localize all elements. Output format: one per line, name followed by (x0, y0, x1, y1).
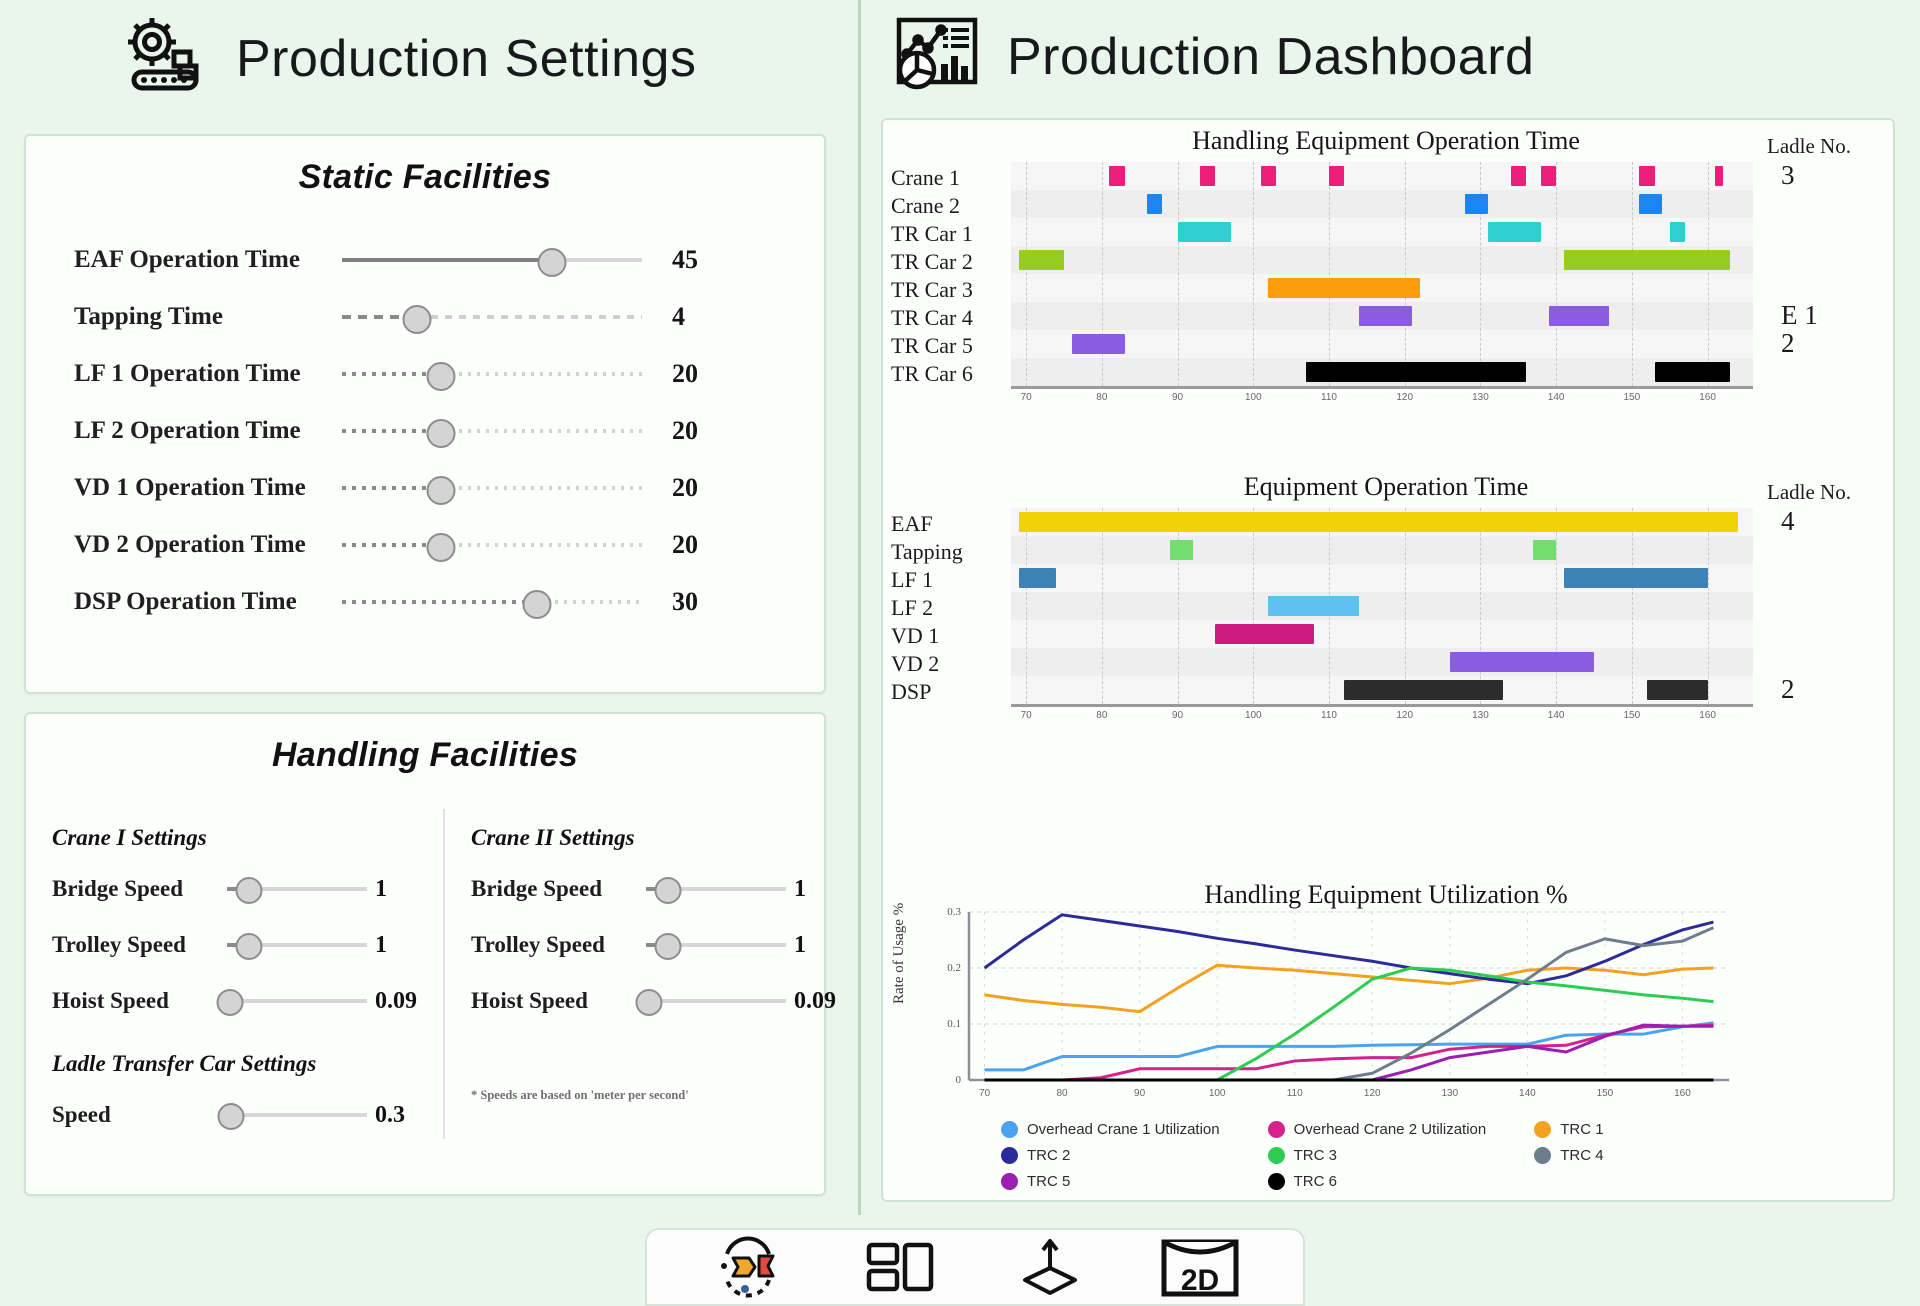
gantt-gridline (1632, 162, 1633, 386)
gantt-row-label: Tapping (883, 538, 1009, 566)
linechart-x-tick: 70 (979, 1088, 990, 1099)
handling-facility-slider[interactable] (227, 989, 367, 1013)
slider-knob[interactable] (635, 989, 662, 1016)
line-series (985, 915, 1714, 984)
linechart-x-tick: 150 (1597, 1088, 1614, 1099)
slider-track (342, 315, 642, 319)
swap-layout-icon[interactable] (695, 1235, 805, 1299)
gear-conveyor-icon (116, 14, 212, 103)
gantt-bar[interactable] (1465, 194, 1488, 214)
handling-facilities-card: Handling Facilities Crane I Settings Bri… (24, 712, 826, 1196)
slider-fill (342, 258, 552, 262)
gantt-x-tick: 90 (1172, 392, 1183, 403)
gantt-row-band (1011, 620, 1753, 648)
slider-rest (441, 486, 642, 490)
static-facility-value: 4 (642, 302, 768, 332)
crane-1-column: Crane I Settings Bridge Speed1Trolley Sp… (26, 809, 445, 1139)
slider-knob[interactable] (403, 305, 432, 334)
linechart-legend: Overhead Crane 1 UtilizationOverhead Cra… (1001, 1116, 1801, 1194)
slider-track (342, 258, 642, 262)
slider-knob[interactable] (216, 989, 243, 1016)
legend-item[interactable]: TRC 6 (1268, 1168, 1535, 1194)
static-facilities-card: Static Facilities EAF Operation Time45Ta… (24, 134, 826, 694)
legend-item[interactable]: TRC 2 (1001, 1142, 1268, 1168)
gantt-bar[interactable] (1072, 334, 1125, 354)
view-2d-icon[interactable]: 2D (1145, 1235, 1255, 1299)
gantt-bar[interactable] (1019, 250, 1064, 270)
handling-equipment-gantt: Handling Equipment Operation Time Crane … (883, 126, 1889, 456)
gantt-gridline (1556, 162, 1557, 386)
gantt-row-label: Crane 1 (883, 164, 1009, 192)
legend-label: Overhead Crane 2 Utilization (1294, 1121, 1487, 1138)
gantt-bar[interactable] (1564, 250, 1731, 270)
handling-facility-label: Bridge Speed (471, 876, 646, 902)
legend-color-dot (1001, 1173, 1018, 1190)
gantt-gridline (1556, 508, 1557, 704)
svg-text:2D: 2D (1181, 1264, 1219, 1297)
static-facility-label: EAF Operation Time (54, 246, 342, 274)
gantt-x-tick: 110 (1321, 710, 1337, 721)
slider-rest (441, 429, 642, 433)
ladle-no-header: Ladle No. (1767, 134, 1851, 159)
gantt-gridline (1102, 508, 1103, 704)
gantt-x-tick: 80 (1096, 392, 1107, 403)
slider-knob[interactable] (427, 476, 456, 505)
slider-knob[interactable] (523, 590, 552, 619)
static-facility-value: 20 (642, 473, 768, 503)
handling-facility-label: Speed (52, 1102, 227, 1128)
static-facility-slider[interactable] (342, 418, 642, 444)
static-facility-value: 30 (642, 587, 768, 617)
gantt-bar[interactable] (1147, 194, 1162, 214)
dashboard-header: Production Dashboard (861, 0, 1920, 105)
slider-track (227, 1113, 367, 1117)
gantt-row-label: LF 2 (883, 594, 1009, 622)
static-facility-slider[interactable] (342, 589, 642, 615)
static-facilities-title: Static Facilities (26, 158, 824, 197)
speed-units-note: * Speeds are based on 'meter per second' (471, 1088, 852, 1103)
handling-facility-label: Trolley Speed (471, 932, 646, 958)
static-facility-row: VD 2 Operation Time20 (54, 516, 796, 573)
slider-knob[interactable] (655, 933, 682, 960)
gantt-row-label: Crane 2 (883, 192, 1009, 220)
legend-label: TRC 4 (1560, 1147, 1603, 1164)
slider-rest (537, 600, 642, 604)
ladle-no-value: 2 (1781, 328, 1795, 359)
handling-facility-slider[interactable] (227, 1103, 367, 1127)
linechart-x-tick: 130 (1441, 1088, 1458, 1099)
gantt-x-tick: 100 (1245, 392, 1262, 403)
handling-facility-row: Trolley Speed1 (52, 917, 417, 973)
gantt-gridline (1329, 162, 1330, 386)
gantt-bar[interactable] (1019, 512, 1738, 532)
static-facility-label: VD 1 Operation Time (54, 474, 342, 502)
handling-facility-value: 0.3 (367, 1102, 405, 1129)
handling-facility-slider[interactable] (646, 933, 786, 957)
gantt-row-label: TR Car 6 (883, 360, 1009, 388)
gantt-row-label: TR Car 2 (883, 248, 1009, 276)
static-facility-row: LF 1 Operation Time20 (54, 345, 796, 402)
legend-color-dot (1001, 1121, 1018, 1138)
gantt-bar[interactable] (1647, 680, 1708, 700)
static-facility-value: 20 (642, 530, 768, 560)
static-facility-row: DSP Operation Time30 (54, 573, 796, 630)
gantt-bar[interactable] (1670, 222, 1685, 242)
slider-track (227, 999, 367, 1003)
gantt-1-title: Handling Equipment Operation Time (883, 126, 1889, 156)
handling-facility-row: Trolley Speed1 (471, 917, 836, 973)
handling-facility-label: Hoist Speed (471, 988, 646, 1014)
view-toolbar: 2D (645, 1228, 1305, 1306)
gantt-x-tick: 150 (1624, 710, 1641, 721)
crane-2-rows: Bridge Speed1Trolley Speed1Hoist Speed0.… (471, 861, 836, 1029)
linechart-x-tick: 90 (1134, 1088, 1145, 1099)
gantt-bar[interactable] (1344, 680, 1503, 700)
gantt-row-band (1011, 536, 1753, 564)
slider-knob[interactable] (655, 877, 682, 904)
gantt-x-tick: 150 (1624, 392, 1641, 403)
gantt-gridline (1480, 508, 1481, 704)
gantt-x-tick: 80 (1096, 710, 1107, 721)
ladle-no-header: Ladle No. (1767, 480, 1851, 505)
legend-label: TRC 6 (1294, 1173, 1337, 1190)
gantt-bar[interactable] (1511, 166, 1526, 186)
handling-facility-value: 1 (367, 932, 387, 959)
gantt-bar[interactable] (1564, 568, 1708, 588)
gantt-bar[interactable] (1170, 540, 1193, 560)
gantt-bar[interactable] (1329, 166, 1344, 186)
static-facility-value: 20 (642, 359, 768, 389)
gantt-x-tick: 160 (1699, 710, 1716, 721)
legend-item[interactable]: TRC 5 (1001, 1168, 1268, 1194)
dashboard-report-icon (891, 14, 983, 99)
axes-3d-icon[interactable] (995, 1235, 1105, 1299)
app-root: Production Settings Static Facilities EA… (0, 0, 1920, 1280)
handling-facility-slider[interactable] (646, 989, 786, 1013)
slider-track (342, 543, 642, 547)
crane-2-column: Crane II Settings Bridge Speed1Trolley S… (445, 809, 862, 1139)
handling-facility-row: Speed0.3 (52, 1087, 417, 1143)
gantt-row-label: EAF (883, 510, 1009, 538)
linechart-y-tick: 0 (931, 1074, 961, 1086)
crane-2-subtitle: Crane II Settings (471, 825, 836, 851)
slider-rest (441, 372, 642, 376)
handling-facility-label: Trolley Speed (52, 932, 227, 958)
gantt-x-tick: 140 (1548, 710, 1565, 721)
static-facility-value: 45 (642, 245, 768, 275)
line-series (985, 965, 1714, 1011)
gantt-2-title: Equipment Operation Time (883, 472, 1889, 502)
legend-color-dot (1268, 1147, 1285, 1164)
linechart-y-tick: 0.3 (931, 906, 961, 918)
ladle-no-value: 4 (1781, 506, 1795, 537)
static-facility-row: VD 1 Operation Time20 (54, 459, 796, 516)
gantt-bar[interactable] (1261, 166, 1276, 186)
static-facility-slider[interactable] (342, 475, 642, 501)
gantt-row-label: VD 2 (883, 650, 1009, 678)
gantt-row-label: TR Car 4 (883, 304, 1009, 332)
static-facility-slider[interactable] (342, 247, 642, 273)
gantt-plot-area (1011, 508, 1753, 707)
gantt-row-band (1011, 592, 1753, 620)
gantt-row-label: TR Car 5 (883, 332, 1009, 360)
static-facility-row: EAF Operation Time45 (54, 231, 796, 288)
static-facility-slider[interactable] (342, 532, 642, 558)
handling-facility-label: Bridge Speed (52, 876, 227, 902)
legend-color-dot (1534, 1147, 1551, 1164)
legend-color-dot (1268, 1173, 1285, 1190)
gantt-bar[interactable] (1639, 166, 1654, 186)
linechart-svg (883, 880, 1889, 1120)
static-facility-row: Tapping Time4 (54, 288, 796, 345)
gantt-row-label: DSP (883, 678, 1009, 706)
legend-item[interactable]: TRC 3 (1268, 1142, 1535, 1168)
gantt-row-label: TR Car 1 (883, 220, 1009, 248)
gantt-row-label: LF 1 (883, 566, 1009, 594)
gantt-bar[interactable] (1488, 222, 1541, 242)
gantt-x-tick: 70 (1021, 710, 1032, 721)
linechart-x-tick: 120 (1364, 1088, 1381, 1099)
static-facility-label: LF 2 Operation Time (54, 417, 342, 445)
handling-facility-value: 0.09 (367, 988, 417, 1015)
gantt-bar[interactable] (1450, 652, 1594, 672)
legend-color-dot (1001, 1147, 1018, 1164)
gantt-gridline (1708, 508, 1709, 704)
gantt-x-tick: 70 (1021, 392, 1032, 403)
gantt-x-tick: 130 (1472, 392, 1489, 403)
gantt-row-labels: EAFTappingLF 1LF 2VD 1VD 2DSP (883, 510, 1009, 706)
static-facility-slider[interactable] (342, 361, 642, 387)
ladle-no-value: 3 (1781, 160, 1795, 191)
gantt-gridline (1708, 162, 1709, 386)
static-facility-label: LF 1 Operation Time (54, 360, 342, 388)
line-series (985, 1023, 1714, 1070)
gantt-bar[interactable] (1109, 166, 1124, 186)
handling-facility-row: Bridge Speed1 (471, 861, 836, 917)
gantt-bar[interactable] (1306, 362, 1526, 382)
gantt-row-labels: Crane 1Crane 2TR Car 1TR Car 2TR Car 3TR… (883, 164, 1009, 388)
gantt-x-tick: 160 (1699, 392, 1716, 403)
legend-label: TRC 5 (1027, 1173, 1070, 1190)
gantt-gridline (1405, 162, 1406, 386)
slider-knob[interactable] (427, 533, 456, 562)
dashboard-title: Production Dashboard (1007, 27, 1534, 87)
handling-facility-row: Hoist Speed0.09 (52, 973, 417, 1029)
gantt-bar[interactable] (1533, 540, 1556, 560)
gantt-x-tick: 120 (1396, 392, 1413, 403)
gantt-bar[interactable] (1200, 166, 1215, 186)
legend-label: Overhead Crane 1 Utilization (1027, 1121, 1220, 1138)
gantt-bar[interactable] (1178, 222, 1231, 242)
static-facility-row: LF 2 Operation Time20 (54, 402, 796, 459)
linechart-x-tick: 140 (1519, 1088, 1536, 1099)
gantt-gridline (1632, 508, 1633, 704)
static-facilities-list: EAF Operation Time45Tapping Time4LF 1 Op… (26, 231, 824, 630)
static-facility-slider[interactable] (342, 304, 642, 330)
slider-fill (342, 600, 537, 604)
gantt-bar[interactable] (1541, 166, 1556, 186)
gantt-gridline (1405, 508, 1406, 704)
slider-track (342, 429, 642, 433)
panel-layout-icon[interactable] (845, 1235, 955, 1299)
handling-utilization-chart: Handling Equipment Utilization % Rate of… (883, 880, 1889, 1198)
linechart-x-tick: 100 (1209, 1088, 1226, 1099)
gantt-bar[interactable] (1655, 362, 1731, 382)
ladle-transfer-rows: Speed0.3 (52, 1087, 417, 1143)
gantt-gridline (1253, 162, 1254, 386)
handling-facility-value: 0.09 (786, 988, 836, 1015)
handling-facility-row: Hoist Speed0.09 (471, 973, 836, 1029)
slider-knob[interactable] (427, 362, 456, 391)
static-facility-value: 20 (642, 416, 768, 446)
handling-facilities-body: Crane I Settings Bridge Speed1Trolley Sp… (26, 809, 824, 1139)
dashboard-card: Handling Equipment Operation Time Crane … (881, 118, 1895, 1202)
handling-facility-row: Bridge Speed1 (52, 861, 417, 917)
handling-facility-slider[interactable] (227, 877, 367, 901)
gantt-bar[interactable] (1359, 306, 1412, 326)
handling-facility-value: 1 (367, 876, 387, 903)
static-facility-label: VD 2 Operation Time (54, 531, 342, 559)
gantt-gridline (1178, 508, 1179, 704)
gantt-bar[interactable] (1549, 306, 1610, 326)
gantt-row-label: VD 1 (883, 622, 1009, 650)
slider-rest (417, 315, 642, 319)
slider-track (342, 600, 642, 604)
gantt-x-tick: 140 (1548, 392, 1565, 403)
linechart-x-tick: 110 (1287, 1088, 1303, 1099)
gantt-gridline (1253, 508, 1254, 704)
slider-rest (441, 543, 642, 547)
handling-facility-label: Hoist Speed (52, 988, 227, 1014)
slider-knob[interactable] (236, 933, 263, 960)
handling-facility-value: 1 (786, 876, 806, 903)
handling-facility-slider[interactable] (646, 877, 786, 901)
crane-1-subtitle: Crane I Settings (52, 825, 417, 851)
linechart-y-tick: 0.2 (931, 962, 961, 974)
settings-title: Production Settings (236, 29, 696, 89)
gantt-gridline (1026, 162, 1027, 386)
linechart-x-tick: 160 (1674, 1088, 1691, 1099)
gantt-bar[interactable] (1268, 596, 1359, 616)
slider-knob[interactable] (538, 248, 567, 277)
slider-track (342, 372, 642, 376)
gantt-x-tick: 130 (1472, 710, 1489, 721)
legend-item[interactable]: TRC 4 (1534, 1142, 1801, 1168)
gantt-bar[interactable] (1215, 624, 1313, 644)
crane-1-rows: Bridge Speed1Trolley Speed1Hoist Speed0.… (52, 861, 417, 1029)
static-facility-label: Tapping Time (54, 303, 342, 331)
gantt-x-tick: 90 (1172, 710, 1183, 721)
gantt-bar[interactable] (1639, 194, 1662, 214)
gantt-gridline (1178, 162, 1179, 386)
handling-facility-slider[interactable] (227, 933, 367, 957)
production-settings-pane: Production Settings Static Facilities EA… (0, 0, 858, 1215)
linechart-x-tick: 80 (1056, 1088, 1067, 1099)
gantt-gridline (1026, 508, 1027, 704)
slider-knob[interactable] (427, 419, 456, 448)
gantt-row-band (1011, 648, 1753, 676)
legend-label: TRC 1 (1560, 1121, 1603, 1138)
slider-track (342, 486, 642, 490)
gantt-x-tick: 100 (1245, 710, 1262, 721)
legend-label: TRC 2 (1027, 1147, 1070, 1164)
static-facility-label: DSP Operation Time (54, 588, 342, 616)
settings-header: Production Settings (0, 0, 858, 109)
production-dashboard-pane: Production Dashboard Handling Equipment … (861, 0, 1920, 1215)
legend-color-dot (1268, 1121, 1285, 1138)
slider-knob[interactable] (218, 1103, 245, 1130)
equipment-gantt: Equipment Operation Time EAFTappingLF 1L… (883, 472, 1889, 772)
gantt-x-tick: 110 (1321, 392, 1337, 403)
slider-knob[interactable] (236, 877, 263, 904)
handling-facilities-title: Handling Facilities (26, 736, 824, 775)
legend-color-dot (1534, 1121, 1551, 1138)
gantt-bar[interactable] (1715, 166, 1723, 186)
ladle-no-value: 2 (1781, 674, 1795, 705)
gantt-x-tick: 120 (1396, 710, 1413, 721)
gantt-row-band (1011, 218, 1753, 246)
slider-track (646, 999, 786, 1003)
ladle-transfer-subtitle: Ladle Transfer Car Settings (52, 1051, 417, 1077)
gantt-bar[interactable] (1019, 568, 1057, 588)
gantt-plot-area (1011, 162, 1753, 389)
ladle-no-value: E 1 (1781, 300, 1818, 331)
linechart-y-tick: 0.1 (931, 1018, 961, 1030)
gantt-row-label: TR Car 3 (883, 276, 1009, 304)
gantt-bar[interactable] (1268, 278, 1419, 298)
handling-facility-value: 1 (786, 932, 806, 959)
legend-label: TRC 3 (1294, 1147, 1337, 1164)
